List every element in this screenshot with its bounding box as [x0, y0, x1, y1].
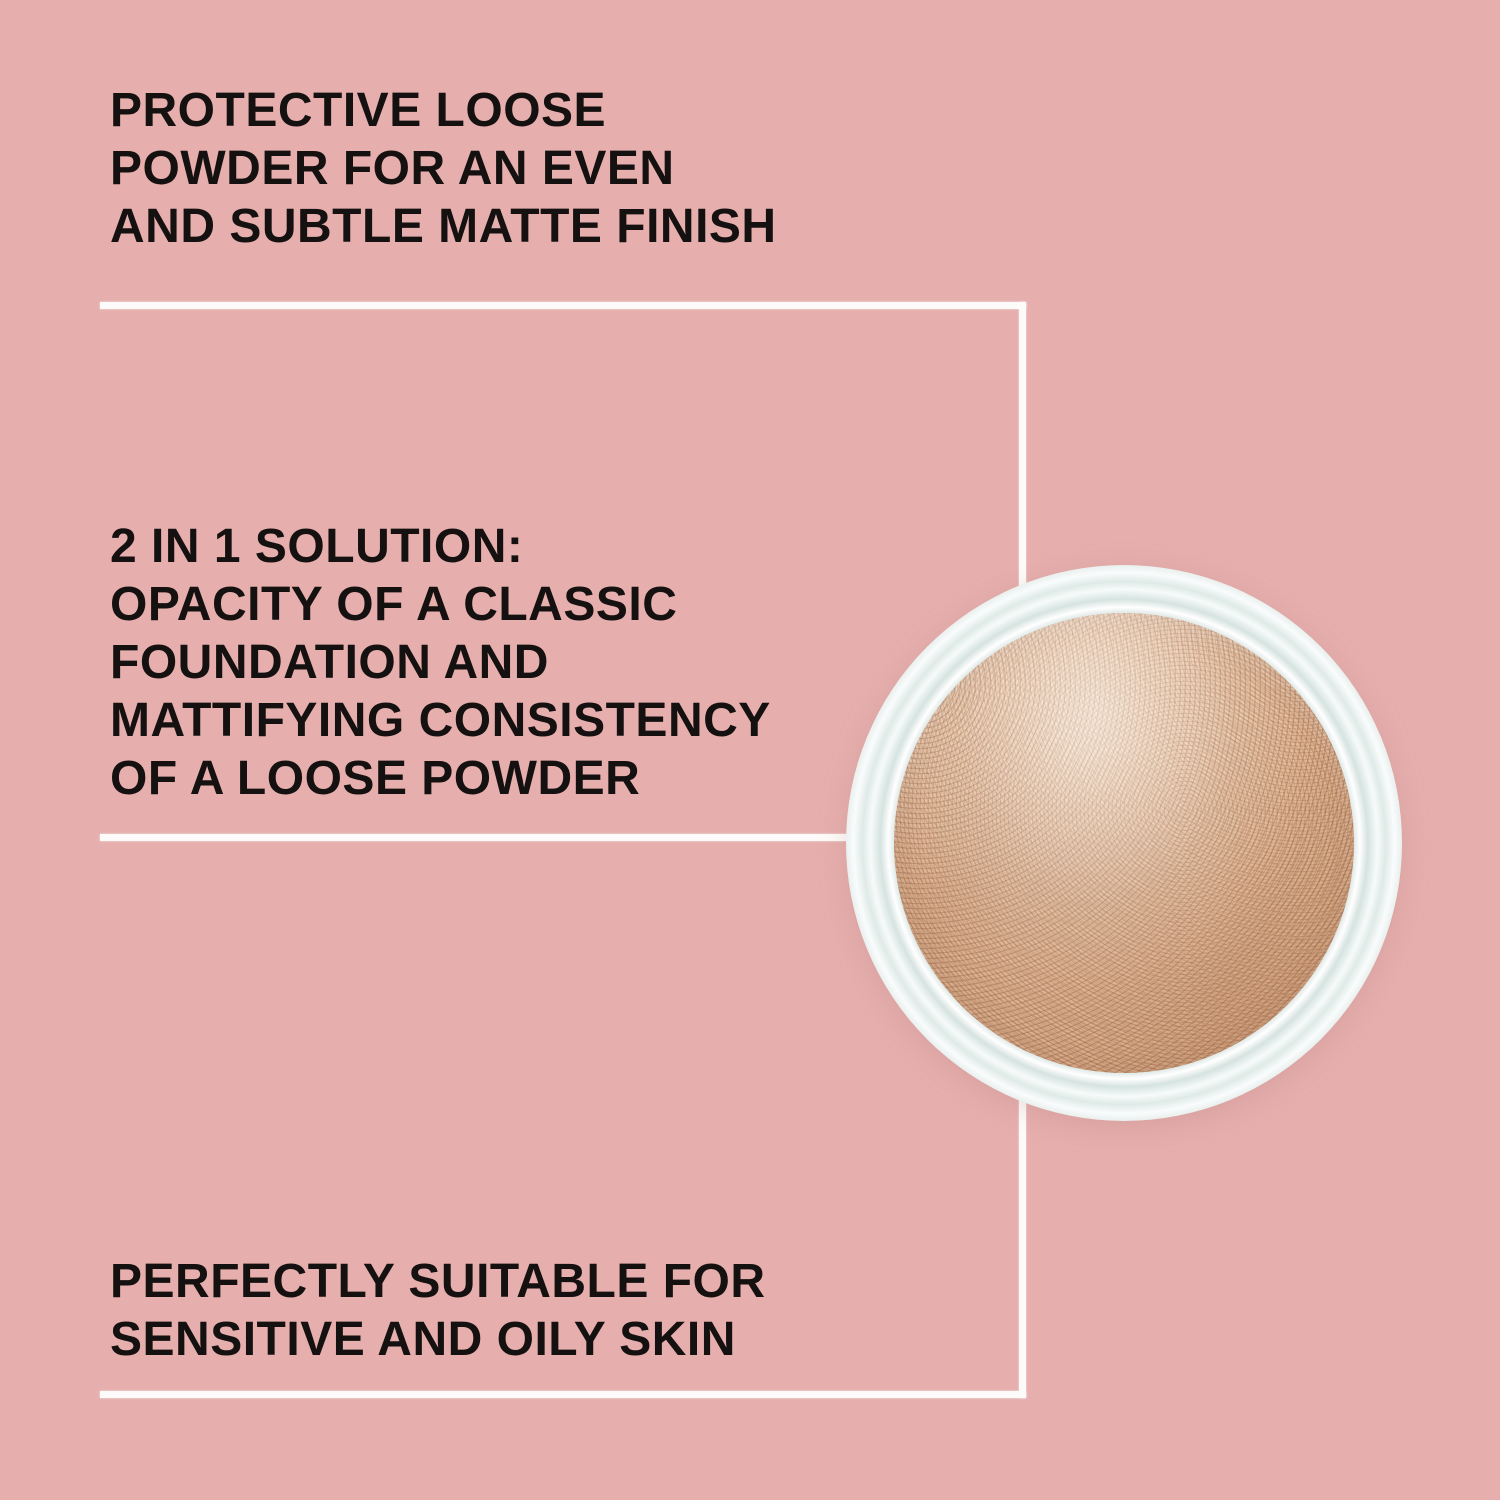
feature-text-top: PROTECTIVE LOOSE POWDER FOR AN EVEN AND … — [110, 82, 777, 256]
product-feature-canvas: PROTECTIVE LOOSE POWDER FOR AN EVEN AND … — [0, 0, 1500, 1500]
divider-line-bottom-horizontal — [100, 1391, 1026, 1398]
feature-text-top-line-2: POWDER FOR AN EVEN — [110, 140, 777, 198]
powder-texture — [894, 613, 1354, 1073]
divider-line-vertical-lower — [1019, 1090, 1026, 1398]
divider-line-vertical-upper — [1019, 302, 1026, 590]
powder-surface — [894, 613, 1354, 1073]
loose-powder-jar-image — [846, 565, 1402, 1121]
feature-text-middle-line-4: MATTIFYING CONSISTENCY — [110, 692, 771, 750]
feature-text-middle-line-5: OF A LOOSE POWDER — [110, 750, 771, 808]
feature-text-bottom: PERFECTLY SUITABLE FOR SENSITIVE AND OIL… — [110, 1253, 766, 1369]
divider-line-middle-horizontal — [100, 834, 872, 841]
divider-line-top-horizontal — [100, 302, 1026, 309]
feature-text-top-line-1: PROTECTIVE LOOSE — [110, 82, 777, 140]
feature-text-top-line-3: AND SUBTLE MATTE FINISH — [110, 198, 777, 256]
feature-text-middle-line-3: FOUNDATION AND — [110, 634, 771, 692]
feature-text-middle: 2 IN 1 SOLUTION: OPACITY OF A CLASSIC FO… — [110, 518, 771, 808]
feature-text-bottom-line-2: SENSITIVE AND OILY SKIN — [110, 1311, 766, 1369]
feature-text-middle-line-1: 2 IN 1 SOLUTION: — [110, 518, 771, 576]
feature-text-middle-line-2: OPACITY OF A CLASSIC — [110, 576, 771, 634]
feature-text-bottom-line-1: PERFECTLY SUITABLE FOR — [110, 1253, 766, 1311]
